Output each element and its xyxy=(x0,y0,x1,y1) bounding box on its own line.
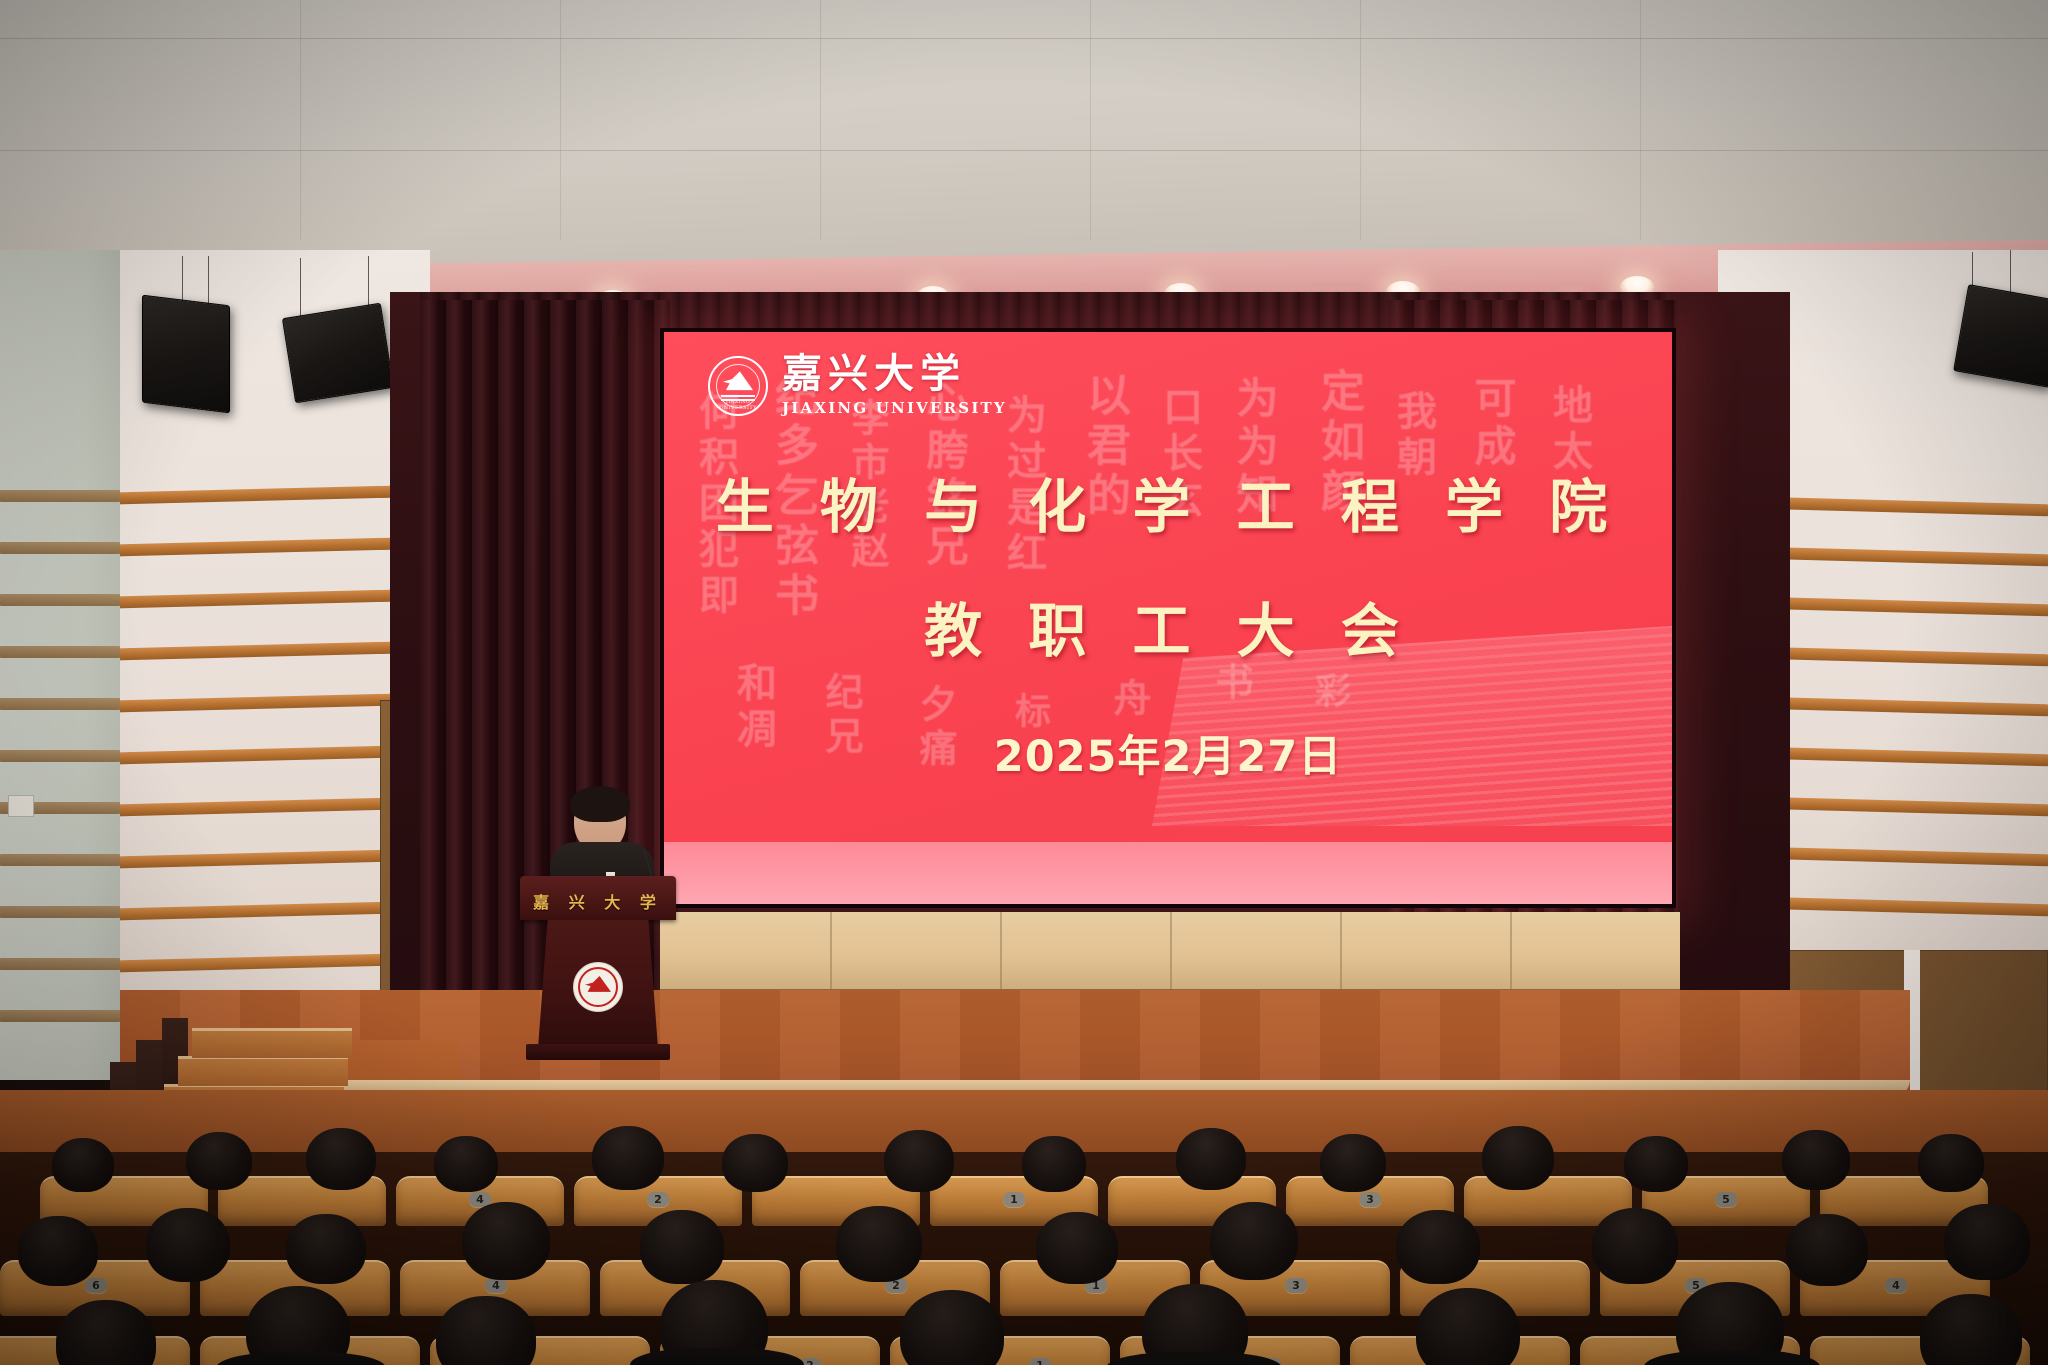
audience-head xyxy=(286,1214,366,1284)
audience-head xyxy=(1176,1128,1246,1190)
university-name-cn: 嘉兴大学 xyxy=(782,354,1007,394)
jiaxing-university-seal-icon xyxy=(573,962,623,1012)
audience-head xyxy=(434,1136,498,1192)
left-wall-speaker xyxy=(282,303,394,404)
stage-apron-backdrop xyxy=(0,1090,2048,1152)
university-logo: JIAXING UNIVERSITY 嘉兴大学 JIAXING UNIVERSI… xyxy=(708,354,1007,417)
audience-head xyxy=(306,1128,376,1190)
slide-date: 2025年2月27日 xyxy=(664,722,1672,784)
audience-head xyxy=(1786,1214,1868,1286)
slide-bottom-band xyxy=(664,842,1672,904)
stage-back-panel-wall xyxy=(660,912,1680,994)
audience-head xyxy=(1782,1130,1850,1190)
audience-head xyxy=(1944,1204,2030,1280)
right-wall-speaker xyxy=(1953,284,2048,388)
audience-head xyxy=(900,1290,1004,1365)
audience-head xyxy=(146,1208,230,1282)
audience-head xyxy=(640,1210,724,1284)
jiaxing-university-seal-icon: JIAXING UNIVERSITY xyxy=(708,356,768,416)
slide-title: 生 物 与 化 学 工 程 学 院 xyxy=(664,460,1672,544)
podium-plate-text: 嘉 兴 大 学 xyxy=(520,889,676,913)
audience-head xyxy=(1210,1202,1298,1280)
audience-head xyxy=(592,1126,664,1190)
slide-subtitle: 教 职 工 大 会 xyxy=(664,584,1672,668)
podium-top-plate: 嘉 兴 大 学 xyxy=(520,876,676,920)
audience-head xyxy=(884,1130,954,1192)
seat-number: 6 xyxy=(85,1278,107,1293)
audience-head xyxy=(1592,1208,1678,1284)
led-screen: 何积困犯即 纪多乞弦书 李市老赵 心胯铭兄 为过是红 以君的 口长玄 为为知 定… xyxy=(660,328,1676,908)
presentation-slide: 何积困犯即 纪多乞弦书 李市老赵 心胯铭兄 为过是红 以君的 口长玄 为为知 定… xyxy=(664,332,1672,904)
audience-head xyxy=(1416,1288,1520,1365)
university-name-en: JIAXING UNIVERSITY xyxy=(782,399,1007,417)
audience-head xyxy=(1396,1210,1480,1284)
audience-head xyxy=(462,1202,550,1280)
step[interactable] xyxy=(192,1028,352,1058)
audience-head xyxy=(1482,1126,1554,1190)
seat-number: 5 xyxy=(1715,1192,1737,1207)
podium-base xyxy=(526,1044,670,1060)
left-wall-column xyxy=(0,250,120,1080)
seal-ring-text: JIAXING UNIVERSITY xyxy=(710,399,766,411)
audience-head xyxy=(836,1206,922,1282)
seat-number: 4 xyxy=(1885,1278,1907,1293)
seat-number: 3 xyxy=(1359,1192,1381,1207)
audience-seating: 4 2 1 3 5 xyxy=(0,1090,2048,1365)
left-line-array-speaker xyxy=(142,295,230,414)
audience-head xyxy=(1320,1134,1386,1192)
seat-number: 3 xyxy=(1285,1278,1307,1293)
seat-number: 2 xyxy=(647,1192,669,1207)
audience-head xyxy=(18,1216,98,1286)
audience-head xyxy=(1918,1134,1984,1192)
audience-head xyxy=(52,1138,114,1192)
audience-head xyxy=(186,1132,252,1190)
audience-head xyxy=(1036,1212,1118,1284)
seat-number: 1 xyxy=(1003,1192,1025,1207)
audience-head xyxy=(1022,1136,1086,1192)
audience-head xyxy=(722,1134,788,1192)
podium: 嘉 兴 大 学 xyxy=(520,876,676,1060)
step[interactable] xyxy=(178,1056,348,1086)
seat-number: 1 xyxy=(1029,1358,1051,1365)
auditorium-scene: 何积困犯即 纪多乞弦书 李市老赵 心胯铭兄 为过是红 以君的 口长玄 为为知 定… xyxy=(0,0,2048,1365)
seat-number: 4 xyxy=(485,1278,507,1293)
audience-head xyxy=(1624,1136,1688,1192)
wall-switch-plate xyxy=(8,795,34,817)
